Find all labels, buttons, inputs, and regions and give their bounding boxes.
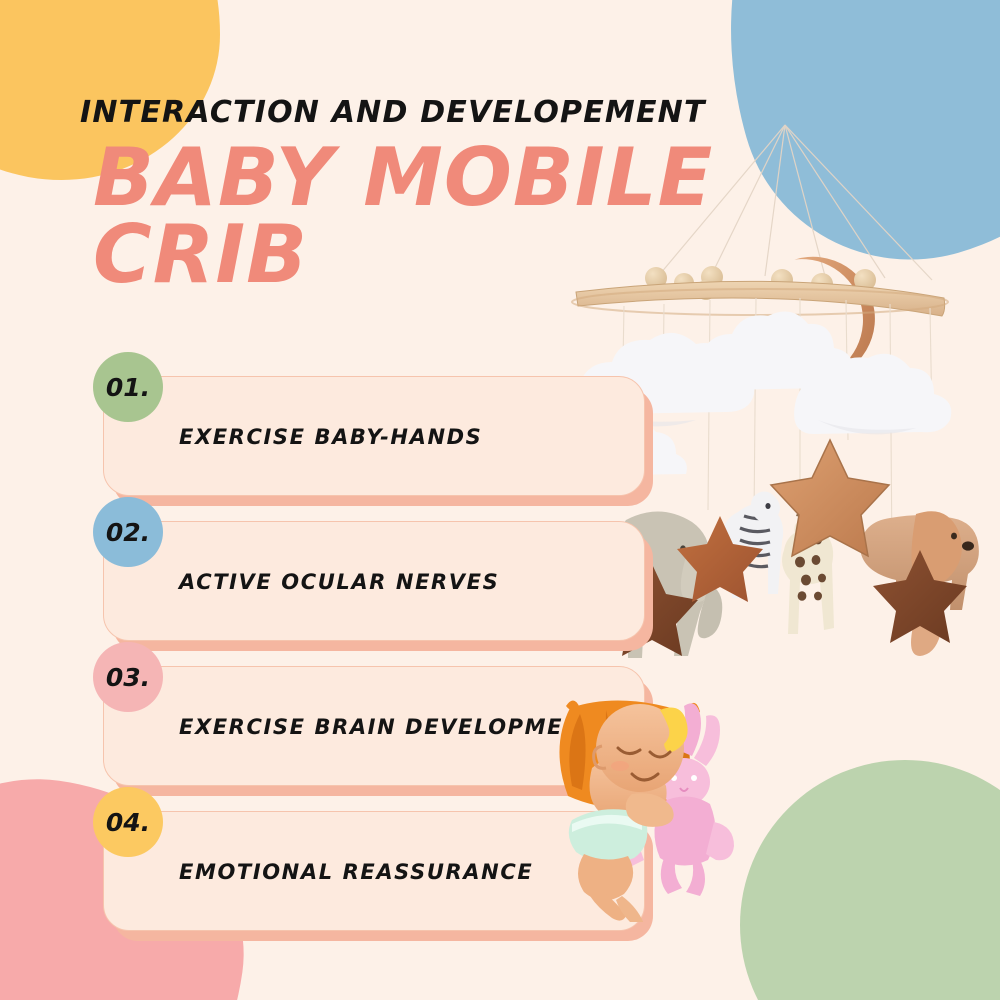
benefit-number-badge: 02. [93,497,163,567]
benefit-label: EXERCISE BABY-HANDS [179,425,482,449]
benefit-label: EMOTIONAL REASSURANCE [179,860,533,884]
page-title-line-2: CRIB [93,217,753,294]
poster-kicker: INTERACTION AND DEVELOPEMENT [80,95,706,130]
page-title: BABY MOBILE CRIB [93,140,753,294]
list-item[interactable]: EMOTIONAL REASSURANCE 04. [0,803,1000,948]
benefits-list: EXERCISE BABY-HANDS 01. ACTIVE OCULAR NE… [0,368,1000,948]
sleeping-baby-illustration [536,690,772,922]
benefit-card[interactable]: ACTIVE OCULAR NERVES [103,521,645,641]
list-item[interactable]: EXERCISE BRAIN DEVELOPMENT 03. [0,658,1000,803]
page-title-line-1: BABY MOBILE [93,140,753,217]
list-item[interactable]: ACTIVE OCULAR NERVES 02. [0,513,1000,658]
benefit-number-badge: 04. [93,787,163,857]
benefit-number-badge: 01. [93,352,163,422]
benefit-label: ACTIVE OCULAR NERVES [179,570,499,594]
benefit-card[interactable]: EXERCISE BABY-HANDS [103,376,645,496]
list-item[interactable]: EXERCISE BABY-HANDS 01. [0,368,1000,513]
poster-canvas: INTERACTION AND DEVELOPEMENT BABY MOBILE… [0,0,1000,1000]
benefit-number-badge: 03. [93,642,163,712]
